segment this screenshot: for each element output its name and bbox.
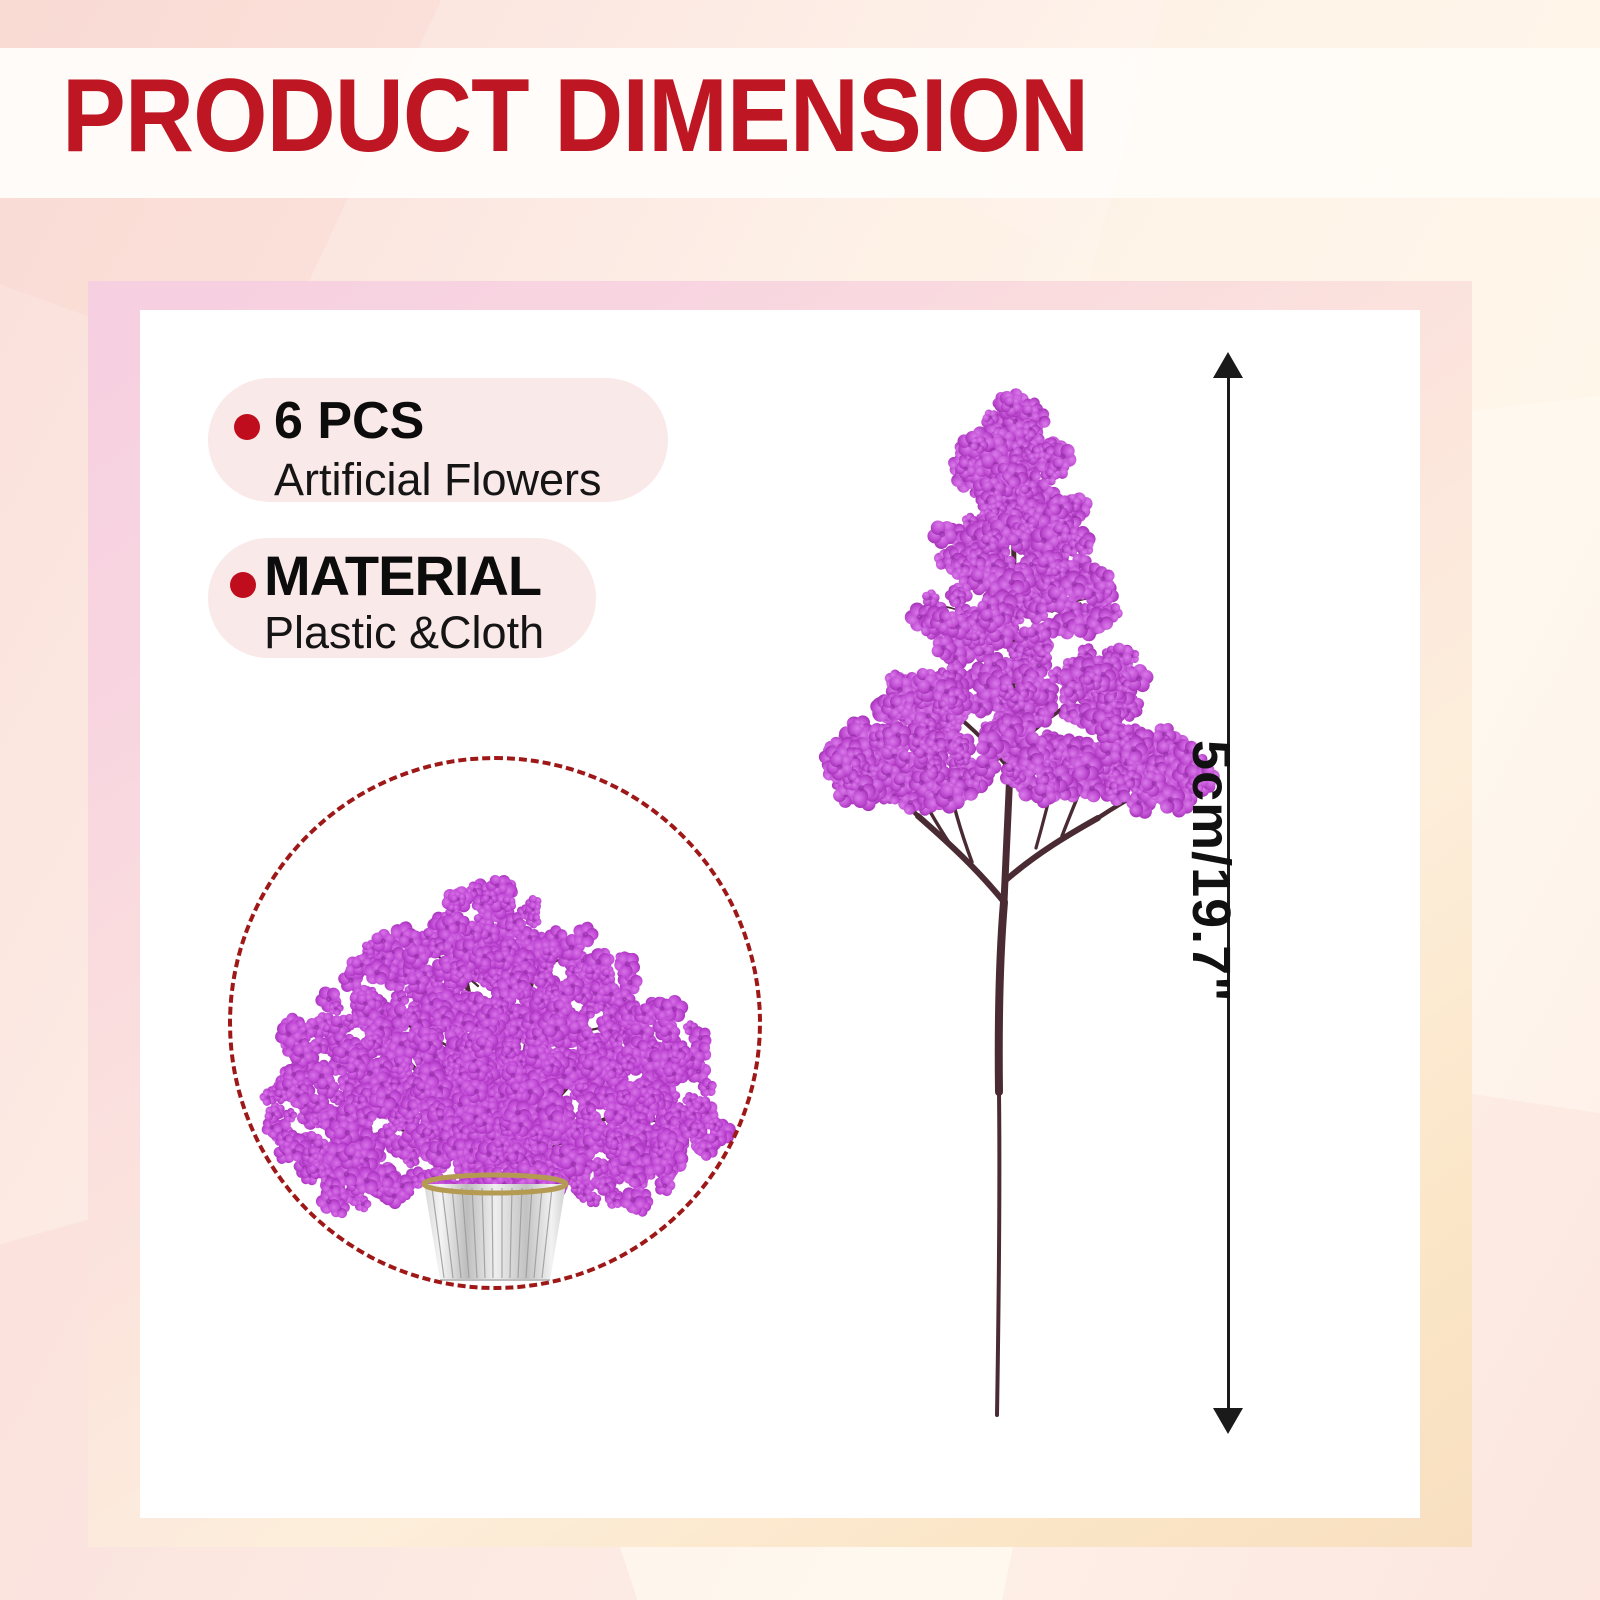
infographic-page: PRODUCT DIMENSION 6 PCS Artificial Flowe… xyxy=(0,0,1600,1600)
stem-illustration xyxy=(800,350,1220,1440)
bullet-dot-icon xyxy=(230,572,256,598)
badge-material: MATERIAL Plastic &Cloth xyxy=(208,538,596,658)
bullet-dot-icon xyxy=(234,414,260,440)
dashed-circle-border xyxy=(228,756,762,1290)
badge-quantity: 6 PCS Artificial Flowers xyxy=(208,378,668,502)
badge-material-heading: MATERIAL xyxy=(264,546,544,606)
badge-quantity-heading: 6 PCS xyxy=(274,390,602,452)
badge-material-subtext: Plastic &Cloth xyxy=(264,606,544,660)
product-stem-image xyxy=(800,350,1220,1440)
dimension-label: 5cm/19.7" xyxy=(1180,740,1242,1003)
page-title: PRODUCT DIMENSION xyxy=(62,64,1088,168)
badge-quantity-subtext: Artificial Flowers xyxy=(274,452,602,508)
highlight-circle xyxy=(228,756,762,1290)
arrow-down-icon xyxy=(1213,1408,1243,1434)
